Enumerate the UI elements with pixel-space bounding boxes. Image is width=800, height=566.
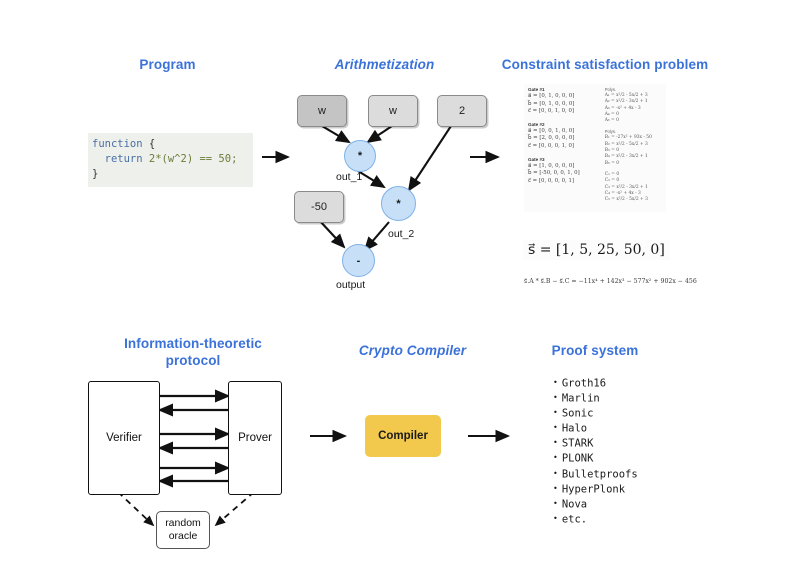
csp-poly-line: B₅ = 0 <box>605 161 664 167</box>
random-oracle-line2: oracle <box>169 530 198 543</box>
wire-const2-to-gate2 <box>409 126 451 190</box>
csp-gate-title: Gate #1 <box>528 87 599 92</box>
csp-poly-line: C₅ = x²/2 - 5x/2 + 3 <box>605 197 664 203</box>
random-oracle-box: random oracle <box>156 511 210 549</box>
protocol-prover-box: Prover <box>228 381 282 495</box>
compiler-box: Compiler <box>365 415 441 457</box>
code-brace-close: } <box>92 168 98 180</box>
wire-w2-to-gate1 <box>368 126 392 142</box>
circuit-gate-mul-2: * <box>381 186 416 221</box>
code-keyword-function: function <box>92 138 143 150</box>
proof-system-item: Marlin <box>553 391 638 406</box>
heading-proof-system: Proof system <box>505 342 685 359</box>
proof-system-item: PLONK <box>553 451 638 466</box>
csp-poly-title: Polys. <box>605 87 664 92</box>
csp-poly-group: Polys. A₁ = x²/2 - 5x/2 + 3 A₂ = x²/2 - … <box>605 87 664 124</box>
csp-vector-b: b⃗ = [2, 0, 0, 0, 0] <box>528 135 599 143</box>
csp-poly-group: C₁ = 0 C₂ = 0 C₃ = x²/2 - 3x/2 + 1 C₄ = … <box>605 172 664 203</box>
csp-gate-group: Gate #3 a⃗ = [1, 0, 0, 0, 0] b⃗ = [-50, … <box>528 157 599 186</box>
oracle-link-verifier <box>118 492 153 525</box>
proof-system-item: STARK <box>553 436 638 451</box>
proof-system-list: Groth16 Marlin Sonic Halo STARK PLONK Bu… <box>553 376 638 527</box>
heading-program: Program <box>110 56 225 73</box>
protocol-verifier-box: Verifier <box>88 381 160 495</box>
circuit-input-minus50: -50 <box>294 191 344 223</box>
csp-poly-group: Polys. B₁ = -27x² + 93x - 50 B₂ = x²/2 -… <box>605 129 664 166</box>
csp-panel: Gate #1 a⃗ = [0, 1, 0, 0, 0] b⃗ = [0, 1,… <box>524 84 666 212</box>
code-expression: 2*(w^2) == 50; <box>143 153 238 165</box>
csp-vector-c: c⃗ = [0, 0, 0, 1, 0] <box>528 143 599 151</box>
circuit-input-w1: w <box>297 95 347 127</box>
csp-gate-group: Gate #2 a⃗ = [0, 0, 1, 0, 0] b⃗ = [2, 0,… <box>528 122 599 151</box>
csp-poly-line: A₅ = 0 <box>605 118 664 124</box>
code-brace-open: { <box>143 138 156 150</box>
csp-vector-b: b⃗ = [-50, 0, 0, 1, 0] <box>528 170 599 178</box>
heading-protocol: Information-theoretic protocol <box>98 335 288 369</box>
wire-gate2-to-gate3 <box>365 222 389 250</box>
oracle-link-prover <box>216 492 254 525</box>
circuit-input-const2: 2 <box>437 95 487 127</box>
proof-system-item: Halo <box>553 421 638 436</box>
heading-protocol-line1: Information-theoretic <box>124 336 262 351</box>
circuit-gate-mul-1: * <box>344 140 376 172</box>
wire-label-out-2: out_2 <box>388 228 414 240</box>
circuit-input-w2: w <box>368 95 418 127</box>
csp-vector-a: a⃗ = [0, 1, 0, 0, 0] <box>528 93 599 101</box>
csp-gate-title: Gate #3 <box>528 157 599 162</box>
csp-vector-b: b⃗ = [0, 1, 0, 0, 0] <box>528 101 599 109</box>
heading-csp: Constraint satisfaction problem <box>480 56 730 73</box>
heading-protocol-line2: protocol <box>166 353 221 368</box>
csp-equation: s⃗.A * s⃗.B − s⃗.C = −11x⁴ + 142x³ − 577… <box>524 278 697 285</box>
circuit-gate-sub: - <box>342 244 375 277</box>
program-code-block: function { return 2*(w^2) == 50; } <box>88 133 253 187</box>
diagram-canvas: Program Arithmetization Constraint satis… <box>0 0 800 566</box>
heading-arithmetization: Arithmetization <box>312 56 457 73</box>
csp-gate-title: Gate #2 <box>528 122 599 127</box>
proof-system-item: Bulletproofs <box>553 467 638 482</box>
proof-system-item: Groth16 <box>553 376 638 391</box>
proof-system-item: HyperPlonk <box>553 482 638 497</box>
wire-w1-to-gate1 <box>322 126 349 142</box>
csp-poly-title: Polys. <box>605 129 664 134</box>
proof-system-item: etc. <box>553 512 638 527</box>
proof-system-item: Sonic <box>553 406 638 421</box>
random-oracle-line1: random <box>165 517 201 530</box>
wire-label-output: output <box>336 279 365 291</box>
wire-label-out-1: out_1 <box>336 171 362 183</box>
heading-crypto-compiler: Crypto Compiler <box>325 342 500 359</box>
wire-minus50-to-gate3 <box>319 220 344 247</box>
code-keyword-return: return <box>92 153 143 165</box>
csp-gate-group: Gate #1 a⃗ = [0, 1, 0, 0, 0] b⃗ = [0, 1,… <box>528 87 599 116</box>
proof-system-item: Nova <box>553 497 638 512</box>
csp-vector-c: c⃗ = [0, 0, 0, 0, 1] <box>528 178 599 186</box>
csp-witness-vector: s⃗ = [1, 5, 25, 50, 0] <box>523 240 670 260</box>
csp-gate-column: Gate #1 a⃗ = [0, 1, 0, 0, 0] b⃗ = [0, 1,… <box>524 84 601 212</box>
csp-vector-c: c⃗ = [0, 0, 1, 0, 0] <box>528 108 599 116</box>
csp-poly-column: Polys. A₁ = x²/2 - 5x/2 + 3 A₂ = x²/2 - … <box>601 84 666 212</box>
